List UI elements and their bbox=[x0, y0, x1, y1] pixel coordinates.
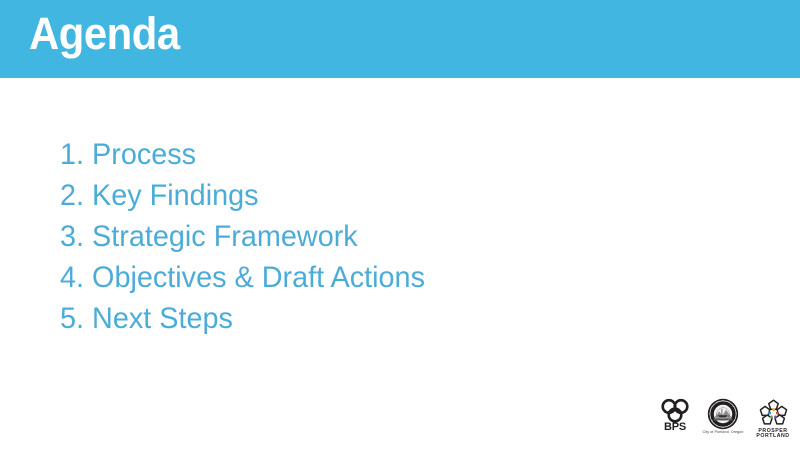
list-item-number: 4. bbox=[60, 261, 84, 294]
logo-strip: BPS bbox=[655, 398, 795, 446]
list-item-label: Strategic Framework bbox=[92, 220, 358, 253]
agenda-slide: Agenda 1. Process 2. Key Findings 3. Str… bbox=[0, 0, 800, 450]
list-item: 4. Objectives & Draft Actions bbox=[60, 257, 425, 298]
list-item-number: 2. bbox=[60, 179, 84, 212]
list-item-label: Next Steps bbox=[92, 302, 233, 335]
list-item-label: Objectives & Draft Actions bbox=[92, 261, 425, 294]
list-item-number: 5. bbox=[60, 302, 84, 335]
list-item-number: 1. bbox=[60, 138, 84, 171]
list-item: 3. Strategic Framework bbox=[60, 216, 425, 257]
bps-trefoil-rings-icon bbox=[658, 398, 692, 423]
list-item-label: Process bbox=[92, 138, 196, 171]
city-of-portland-logo-caption: City of Portland, Oregon bbox=[703, 431, 744, 435]
bps-logo-caption: BPS bbox=[664, 422, 686, 434]
list-item: 1. Process bbox=[60, 134, 425, 175]
prosper-portland-caption-line2: PORTLAND bbox=[756, 434, 789, 439]
list-item-number: 3. bbox=[60, 220, 84, 253]
prosper-portland-rose-icon bbox=[758, 398, 789, 427]
bps-logo: BPS bbox=[655, 398, 695, 434]
prosper-portland-logo-caption: PROSPER PORTLAND bbox=[756, 429, 789, 440]
city-of-portland-logo: City of Portland, Oregon bbox=[700, 398, 746, 435]
prosper-portland-logo: PROSPER PORTLAND bbox=[751, 398, 795, 439]
list-item: 2. Key Findings bbox=[60, 175, 425, 216]
page-title: Agenda bbox=[29, 9, 180, 59]
list-item-label: Key Findings bbox=[92, 179, 258, 212]
header-band: Agenda bbox=[0, 0, 800, 78]
agenda-list: 1. Process 2. Key Findings 3. Strategic … bbox=[60, 134, 440, 339]
city-of-portland-seal-icon bbox=[707, 398, 739, 430]
list-item: 5. Next Steps bbox=[60, 298, 425, 339]
